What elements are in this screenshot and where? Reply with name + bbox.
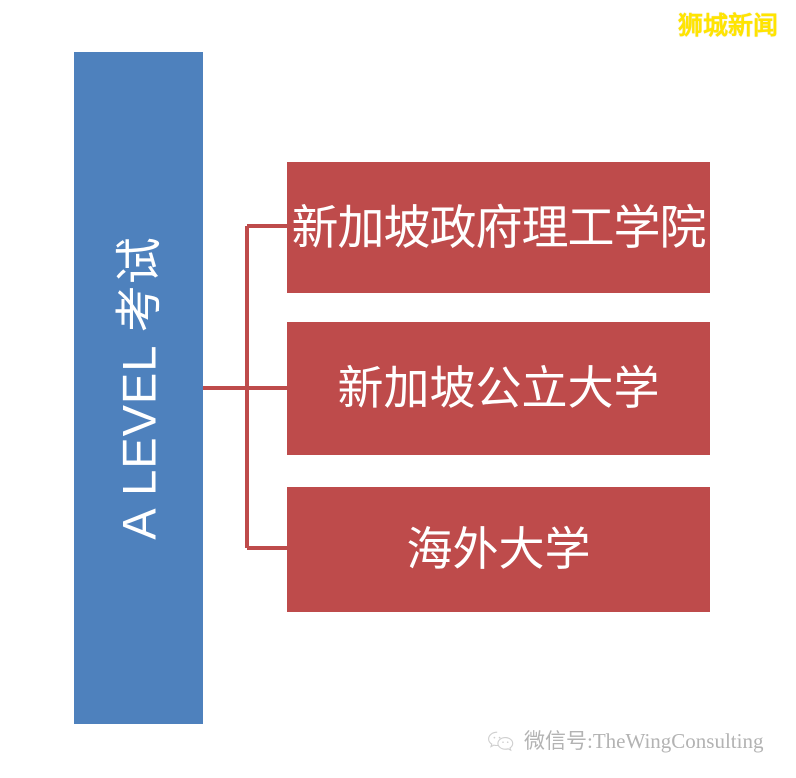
branch-node-public-university: 新加坡公立大学: [287, 322, 710, 455]
branch-node-overseas-university: 海外大学: [287, 487, 710, 612]
root-node-a-level: A LEVEL 考试: [74, 52, 203, 724]
diagram-canvas: 狮城新闻 A LEVEL 考试 新加坡政府理工学院 新加坡公立大学 海外大学: [0, 0, 796, 778]
watermark-top-right: 狮城新闻: [678, 14, 778, 39]
watermark-bottom-right: 微信号:TheWingConsulting: [486, 730, 763, 752]
branch-node-label: 新加坡公立大学: [338, 364, 660, 412]
branch-node-polytechnic: 新加坡政府理工学院: [287, 162, 710, 293]
wechat-icon: [486, 730, 516, 752]
root-node-label: A LEVEL 考试: [115, 236, 162, 539]
branch-node-label: 新加坡政府理工学院: [292, 203, 706, 252]
watermark-bottom-text: 微信号:TheWingConsulting: [524, 731, 763, 752]
branch-node-label: 海外大学: [407, 525, 591, 573]
